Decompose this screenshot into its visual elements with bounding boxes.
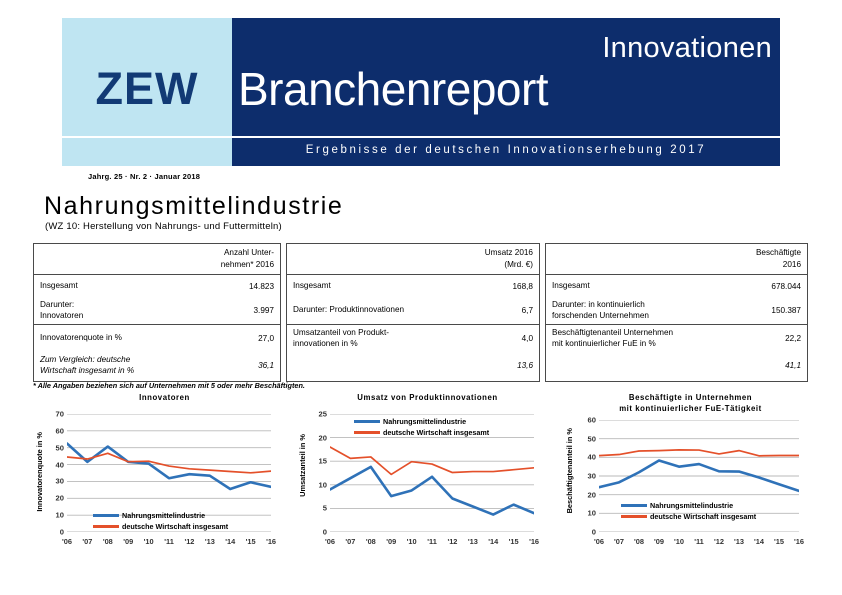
table-footer: Beschäftigtenanteil Unternehmen mit kont… [546, 325, 807, 381]
x-tick-label: '14 [749, 537, 769, 546]
key-figures-table: Anzahl Unter- nehmen* 2016 Insgesamt 14.… [33, 243, 809, 382]
x-tick-label: '13 [463, 537, 483, 546]
legend-label: Nahrungsmittelindustrie [383, 417, 466, 426]
table-body: Insgesamt 14.823 Darunter: Innovatoren 3… [34, 275, 280, 325]
y-tick-label: 0 [323, 528, 327, 537]
y-tick-label: 10 [56, 511, 64, 520]
series-line [330, 447, 534, 474]
column-header: Umsatz 2016 (Mrd. €) [287, 244, 539, 275]
table-row: Beschäftigtenanteil Unternehmen mit kont… [546, 325, 807, 352]
x-tick-label: '09 [381, 537, 401, 546]
charts-row: Innovatoren Innovatorenquote in % 010203… [33, 392, 823, 582]
x-tick-label: '15 [769, 537, 789, 546]
y-tick-label: 10 [588, 509, 596, 518]
y-tick-label: 40 [56, 460, 64, 469]
page-title: Nahrungsmittelindustrie [44, 192, 343, 221]
table-row: Darunter: Innovatoren 3.997 [34, 297, 280, 324]
x-tick-label: '13 [200, 537, 220, 546]
page-subtitle: (WZ 10: Herstellung von Nahrungs- und Fu… [45, 221, 282, 232]
y-tick-label: 60 [588, 416, 596, 425]
legend-item: Nahrungsmittelindustrie [354, 416, 489, 427]
x-tick-label: '06 [57, 537, 77, 546]
y-tick-label: 20 [319, 433, 327, 442]
x-tick-label: '07 [609, 537, 629, 546]
legend-label: Nahrungsmittelindustrie [650, 501, 733, 510]
report-page: ZEW Innovationen Branchenreport Ergebnis… [0, 0, 842, 595]
header-branchenreport-text: Branchenreport [238, 66, 774, 112]
x-tick-label: '07 [77, 537, 97, 546]
y-tick-label: 25 [319, 410, 327, 419]
y-tick-label: 20 [56, 494, 64, 503]
issue-line: Jahrg. 25 · Nr. 2 · Januar 2018 [88, 172, 200, 181]
legend-label: deutsche Wirtschaft insgesamt [650, 512, 756, 521]
y-tick-label: 50 [56, 443, 64, 452]
table-body: Insgesamt 168,8 Darunter: Produktinnovat… [287, 275, 539, 325]
table-row: Darunter: Produktinnovationen 6,7 [287, 297, 539, 324]
chart-title: Umsatz von Produktinnovationen [296, 392, 559, 403]
chart-x-tick-labels: '06'07'08'09'10'11'12'13'14'15'16 [57, 537, 281, 546]
series-line [599, 450, 799, 456]
chart-x-tick-labels: '06'07'08'09'10'11'12'13'14'15'16 [589, 537, 809, 546]
x-tick-label: '14 [483, 537, 503, 546]
chart-legend: Nahrungsmittelindustriedeutsche Wirtscha… [621, 500, 756, 522]
x-tick-label: '06 [320, 537, 340, 546]
y-tick-label: 20 [588, 490, 596, 499]
legend-swatch [93, 525, 119, 528]
x-tick-label: '10 [401, 537, 421, 546]
legend-swatch [354, 420, 380, 423]
x-tick-label: '08 [629, 537, 649, 546]
y-tick-label: 60 [56, 426, 64, 435]
x-tick-label: '15 [503, 537, 523, 546]
table-column-unternehmen: Anzahl Unter- nehmen* 2016 Insgesamt 14.… [33, 243, 281, 382]
x-tick-label: '15 [240, 537, 260, 546]
y-tick-label: 0 [592, 528, 596, 537]
x-tick-label: '08 [98, 537, 118, 546]
y-tick-label: 40 [588, 453, 596, 462]
report-header: ZEW Innovationen Branchenreport Ergebnis… [62, 18, 780, 166]
x-tick-label: '06 [589, 537, 609, 546]
table-column-beschaeftigte: Beschäftigte 2016 Insgesamt 678.044 Daru… [545, 243, 808, 382]
x-tick-label: '10 [669, 537, 689, 546]
chart-y-tick-labels: 0102030405060 [570, 420, 596, 532]
x-tick-label: '11 [159, 537, 179, 546]
legend-item: Nahrungsmittelindustrie [93, 510, 228, 521]
chart-beschaeftigte-fue: Beschäftigte in Unternehmen mit kontinui… [559, 392, 822, 582]
table-row: 41,1 [546, 352, 807, 379]
table-row: Darunter: in kontinuierlich forschenden … [546, 297, 807, 324]
y-tick-label: 70 [56, 410, 64, 419]
table-column-umsatz: Umsatz 2016 (Mrd. €) Insgesamt 168,8 Dar… [286, 243, 540, 382]
chart-legend: Nahrungsmittelindustriedeutsche Wirtscha… [354, 416, 489, 438]
table-row: Insgesamt 168,8 [287, 275, 539, 297]
chart-x-tick-labels: '06'07'08'09'10'11'12'13'14'15'16 [320, 537, 544, 546]
y-tick-label: 15 [319, 457, 327, 466]
legend-label: deutsche Wirtschaft insgesamt [383, 428, 489, 437]
legend-item: deutsche Wirtschaft insgesamt [621, 511, 756, 522]
x-tick-label: '12 [709, 537, 729, 546]
x-tick-label: '07 [340, 537, 360, 546]
table-footer: Innovatorenquote in % 27,0 Zum Vergleich… [34, 325, 280, 381]
header-innovationen-text: Innovationen [602, 34, 772, 63]
x-tick-label: '09 [118, 537, 138, 546]
legend-swatch [621, 515, 647, 518]
y-tick-label: 5 [323, 504, 327, 513]
series-line [330, 467, 534, 515]
header-title-block: Innovationen Branchenreport [232, 18, 780, 136]
header-subtitle-bar: Ergebnisse der deutschen Innovationserhe… [232, 138, 780, 166]
header-subtitle-text: Ergebnisse der deutschen Innovationserhe… [232, 144, 780, 156]
x-tick-label: '12 [442, 537, 462, 546]
zew-logo-block: ZEW [62, 18, 232, 166]
chart-title: Beschäftigte in Unternehmen mit kontinui… [559, 392, 822, 414]
series-line [67, 453, 271, 473]
legend-swatch [621, 504, 647, 507]
chart-y-tick-labels: 010203040506070 [38, 414, 64, 532]
table-row: Insgesamt 678.044 [546, 275, 807, 297]
x-tick-label: '11 [422, 537, 442, 546]
x-tick-label: '16 [524, 537, 544, 546]
x-tick-label: '14 [220, 537, 240, 546]
y-tick-label: 30 [588, 472, 596, 481]
table-row: Insgesamt 14.823 [34, 275, 280, 297]
legend-label: deutsche Wirtschaft insgesamt [122, 522, 228, 531]
x-tick-label: '09 [649, 537, 669, 546]
legend-item: Nahrungsmittelindustrie [621, 500, 756, 511]
table-body: Insgesamt 678.044 Darunter: in kontinuie… [546, 275, 807, 325]
column-header: Anzahl Unter- nehmen* 2016 [34, 244, 280, 275]
chart-legend: Nahrungsmittelindustriedeutsche Wirtscha… [93, 510, 228, 532]
legend-label: Nahrungsmittelindustrie [122, 511, 205, 520]
table-footnote: * Alle Angaben beziehen sich auf Unterne… [33, 381, 305, 390]
table-row: 13,6 [287, 352, 539, 379]
table-footer: Umsatzanteil von Produkt- innovationen i… [287, 325, 539, 381]
legend-item: deutsche Wirtschaft insgesamt [354, 427, 489, 438]
y-tick-label: 0 [60, 528, 64, 537]
chart-title: Innovatoren [33, 392, 296, 403]
logo-divider [62, 136, 232, 138]
chart-innovatoren: Innovatoren Innovatorenquote in % 010203… [33, 392, 296, 582]
table-row: Zum Vergleich: deutsche Wirtschaft insge… [34, 352, 280, 379]
x-tick-label: '11 [689, 537, 709, 546]
table-row: Umsatzanteil von Produkt- innovationen i… [287, 325, 539, 352]
y-tick-label: 30 [56, 477, 64, 486]
table-row: Innovatorenquote in % 27,0 [34, 325, 280, 352]
x-tick-label: '12 [179, 537, 199, 546]
legend-swatch [354, 431, 380, 434]
legend-swatch [93, 514, 119, 517]
zew-logo-text: ZEW [62, 66, 232, 111]
x-tick-label: '08 [361, 537, 381, 546]
x-tick-label: '16 [789, 537, 809, 546]
x-tick-label: '16 [261, 537, 281, 546]
chart-umsatz-produktinnovationen: Umsatz von Produktinnovationen Umsatzant… [296, 392, 559, 582]
legend-item: deutsche Wirtschaft insgesamt [93, 521, 228, 532]
y-tick-label: 10 [319, 480, 327, 489]
column-header: Beschäftigte 2016 [546, 244, 807, 275]
chart-y-tick-labels: 0510152025 [301, 414, 327, 532]
x-tick-label: '10 [138, 537, 158, 546]
y-tick-label: 50 [588, 434, 596, 443]
x-tick-label: '13 [729, 537, 749, 546]
